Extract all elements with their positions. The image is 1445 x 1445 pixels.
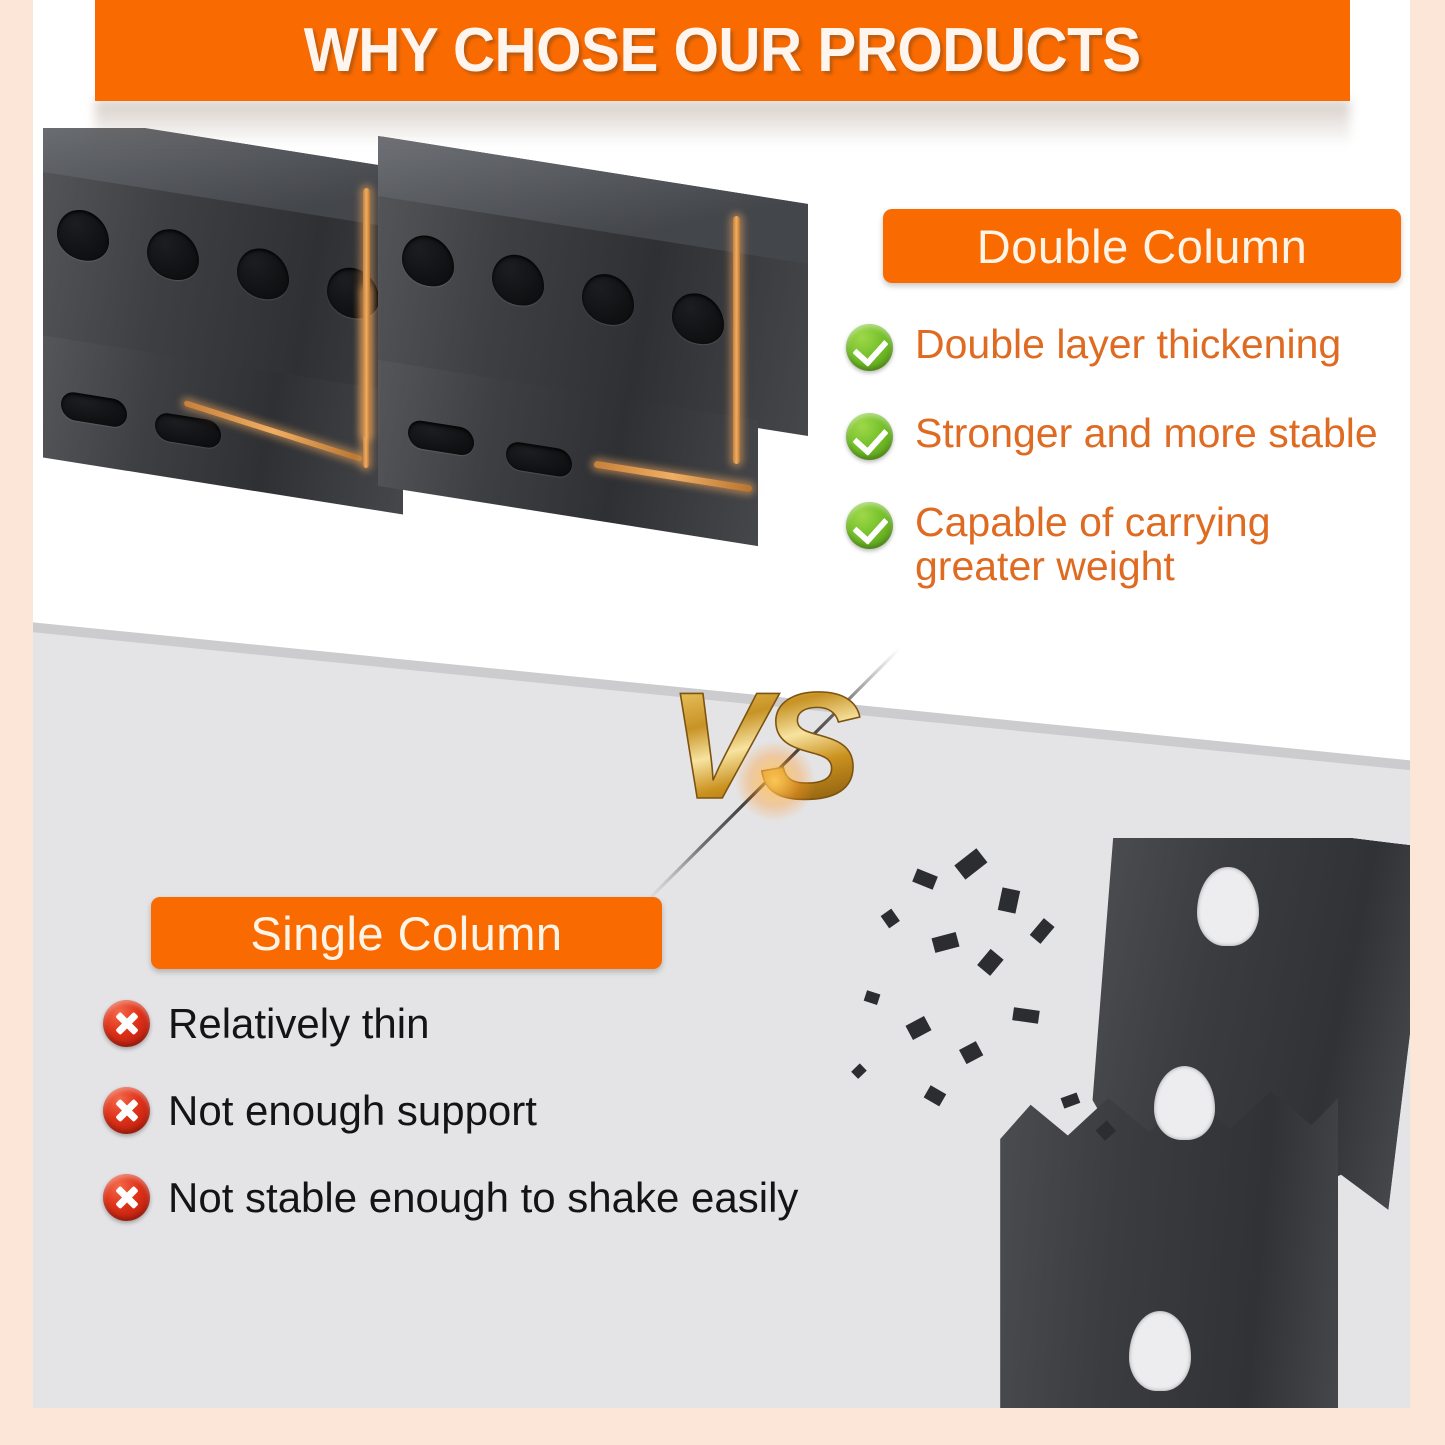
debris-fragment — [998, 888, 1021, 914]
versus-emblem: VS — [648, 640, 878, 870]
x-circle-icon — [103, 1174, 150, 1221]
debris-fragment — [977, 949, 1003, 976]
check-circle-icon — [846, 502, 893, 549]
header-banner: WHY CHOSE OUR PRODUCTS — [95, 0, 1350, 101]
keyhole-slot — [492, 251, 544, 309]
single-column-drawback-list: Relatively thin Not enough support Not s… — [103, 1000, 893, 1261]
single-column-badge-label: Single Column — [250, 906, 562, 961]
keyhole-slot — [237, 245, 289, 303]
oval-slot — [408, 419, 474, 457]
double-column-feature-list: Double layer thickening Stronger and mor… — [846, 320, 1410, 627]
debris-fragment — [1030, 917, 1055, 943]
x-circle-icon — [103, 1087, 150, 1134]
drawback-label: Not enough support — [168, 1088, 537, 1133]
list-item: Not stable enough to shake easily — [103, 1174, 893, 1221]
drawback-label: Relatively thin — [168, 1001, 429, 1046]
feature-label: Stronger and more stable — [915, 409, 1378, 455]
keyhole-slot — [147, 225, 199, 283]
list-item: Double layer thickening — [846, 320, 1410, 371]
page-title: WHY CHOSE OUR PRODUCTS — [304, 15, 1141, 86]
debris-fragment — [954, 849, 987, 880]
x-circle-icon — [103, 1000, 150, 1047]
check-circle-icon — [846, 324, 893, 371]
oval-slot — [155, 411, 221, 449]
check-circle-icon — [846, 413, 893, 460]
keyhole-slot — [402, 232, 454, 290]
banner-drop-shadow — [95, 100, 1350, 146]
oval-slot — [61, 390, 127, 428]
double-column-product-photo — [33, 128, 833, 628]
list-item: Not enough support — [103, 1087, 893, 1134]
debris-fragment — [905, 1016, 931, 1040]
copper-fold-edge-front-vertical — [363, 188, 370, 438]
content-area: VS Double Column Double layer thickening… — [33, 0, 1410, 1408]
keyhole-slot — [327, 264, 379, 322]
infographic-root: VS Double Column Double layer thickening… — [0, 0, 1445, 1445]
copper-fold-edge-right — [733, 216, 740, 464]
keyhole-slot — [582, 270, 634, 328]
debris-fragment — [924, 1085, 947, 1106]
keyhole-slot — [672, 290, 724, 348]
keyhole-slot — [57, 206, 109, 264]
keyhole-slot — [1129, 1311, 1191, 1391]
debris-fragment — [959, 1041, 984, 1064]
double-column-badge-label: Double Column — [977, 219, 1307, 274]
debris-fragment — [1060, 1092, 1080, 1109]
debris-fragment — [1012, 1007, 1039, 1023]
feature-label: Capable of carrying greater weight — [915, 498, 1335, 589]
list-item: Capable of carrying greater weight — [846, 498, 1410, 589]
single-column-badge: Single Column — [151, 897, 662, 969]
drawback-label: Not stable enough to shake easily — [168, 1175, 798, 1220]
feature-label: Double layer thickening — [915, 320, 1341, 366]
list-item: Relatively thin — [103, 1000, 893, 1047]
list-item: Stronger and more stable — [846, 409, 1410, 460]
double-column-badge: Double Column — [883, 209, 1401, 283]
oval-slot — [506, 440, 572, 478]
keyhole-slot — [1197, 867, 1259, 947]
